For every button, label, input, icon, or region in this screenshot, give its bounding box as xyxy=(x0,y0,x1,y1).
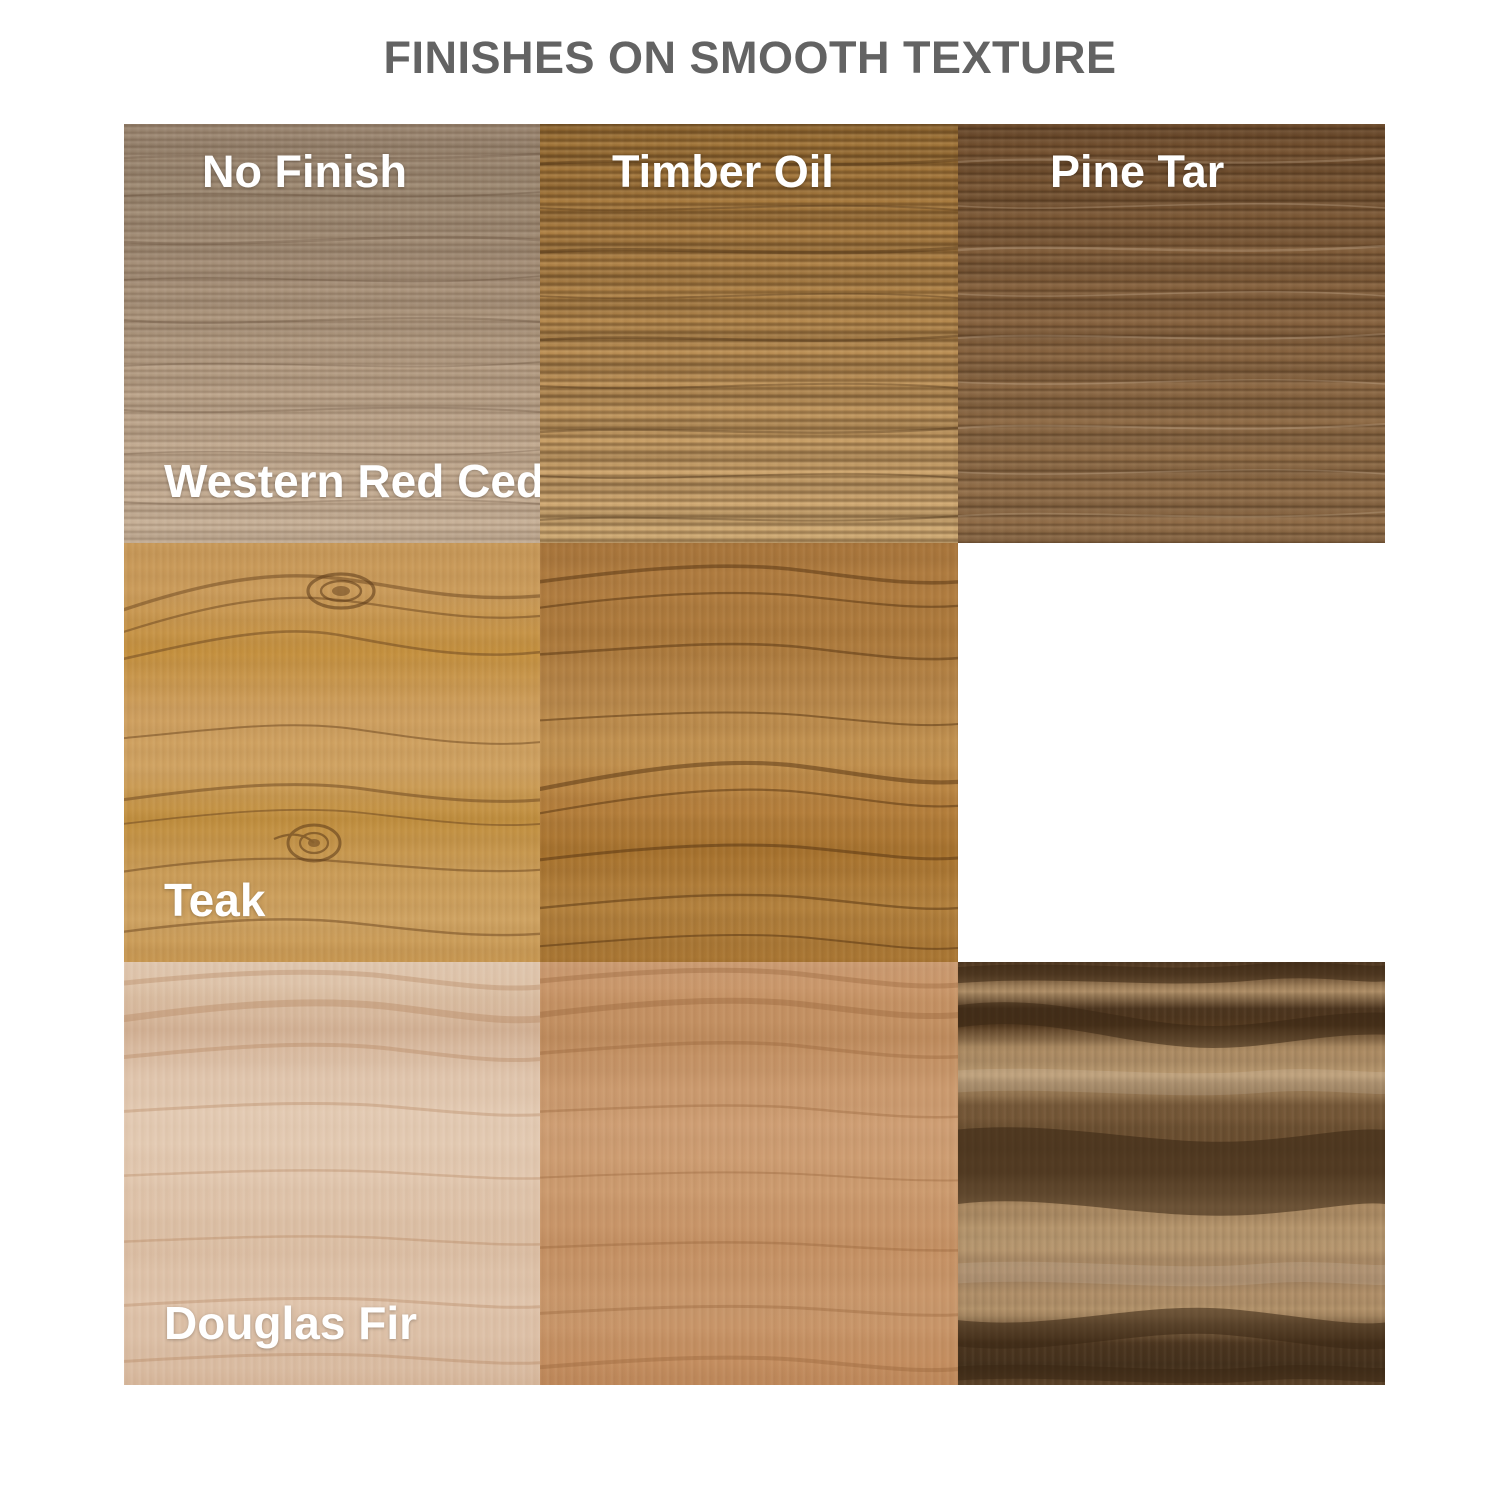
swatch-cell-western-red-cedar-pine-tar[interactable]: Pine Tar xyxy=(958,124,1385,543)
column-label-timber-oil: Timber Oil xyxy=(612,146,834,198)
column-label-pine-tar: Pine Tar xyxy=(1050,146,1224,198)
grain-figure-icon xyxy=(540,543,958,962)
row-label-teak: Teak xyxy=(164,873,265,927)
grain-figure-icon xyxy=(958,962,1385,1385)
swatch-cell-teak-timber-oil[interactable] xyxy=(540,543,958,962)
page-title: FINISHES ON SMOOTH TEXTURE xyxy=(0,32,1500,84)
wood-texture-fir-timber-oil xyxy=(540,962,958,1385)
wood-texture-teak-timber-oil xyxy=(540,543,958,962)
swatch-grid: No Finish Western Red Cedar xyxy=(124,124,1385,1385)
swatch-cell-teak-no-finish[interactable]: Teak xyxy=(124,543,540,962)
swatch-cell-teak-pine-tar-empty xyxy=(958,543,1385,962)
swatch-cell-douglas-fir-pine-tar[interactable] xyxy=(958,962,1385,1385)
row-label-western-red-cedar: Western Red Cedar xyxy=(164,454,540,508)
row-label-douglas-fir: Douglas Fir xyxy=(164,1296,417,1350)
swatch-cell-western-red-cedar-timber-oil[interactable]: Timber Oil xyxy=(540,124,958,543)
finish-comparison-chart: FINISHES ON SMOOTH TEXTURE xyxy=(0,0,1500,1500)
column-label-no-finish: No Finish xyxy=(202,146,407,198)
swatch-cell-douglas-fir-no-finish[interactable]: Douglas Fir xyxy=(124,962,540,1385)
wood-texture-fir-pine-tar xyxy=(958,962,1385,1385)
swatch-cell-douglas-fir-timber-oil[interactable] xyxy=(540,962,958,1385)
swatch-cell-western-red-cedar-no-finish[interactable]: No Finish Western Red Cedar xyxy=(124,124,540,543)
grain-figure-icon xyxy=(540,962,958,1385)
